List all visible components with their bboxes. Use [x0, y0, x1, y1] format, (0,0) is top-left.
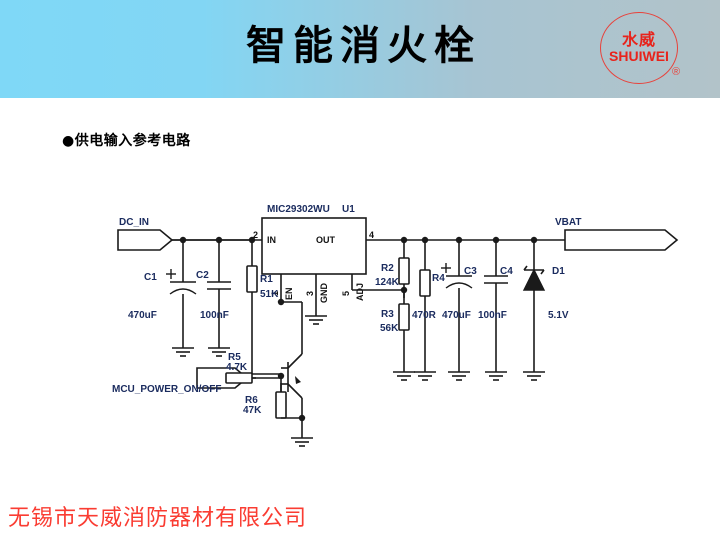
label-c2-value: 100nF	[200, 310, 229, 321]
label-r3-designator: R3	[381, 309, 394, 320]
label-c4-designator: C4	[500, 266, 513, 277]
label-c1-value: 470uF	[128, 310, 157, 321]
port-vbat	[565, 230, 677, 250]
ic-part-number: MIC29302WU	[267, 204, 330, 215]
component-c4	[484, 237, 508, 380]
ic-pin-5-number: 5	[341, 291, 351, 296]
component-r4	[414, 237, 436, 380]
label-c4-value: 100nF	[478, 310, 507, 321]
component-c1	[166, 237, 196, 356]
label-r1-designator: R1	[260, 274, 273, 285]
ic-pin-4-number: 4	[369, 230, 374, 240]
label-c3-designator: C3	[464, 266, 477, 277]
label-port-dc-in: DC_IN	[119, 217, 149, 228]
label-port-vbat: VBAT	[555, 217, 581, 228]
ic-designator: U1	[342, 204, 355, 215]
component-c2	[207, 237, 231, 356]
label-r5-value: 4.7K	[226, 362, 248, 373]
label-port-mcu-power: MCU_POWER_ON/OFF	[112, 384, 221, 395]
section-heading: ●供电输入参考电路	[62, 130, 191, 150]
label-r4-value: 470R	[412, 310, 437, 321]
registered-trademark-icon: ®	[672, 66, 680, 78]
label-r2-value: 124K	[375, 277, 400, 288]
label-d1-designator: D1	[552, 266, 565, 277]
logo-pinyin-text: SHUIWEI	[600, 48, 678, 64]
label-r2-designator: R2	[381, 263, 394, 274]
label-c2-designator: C2	[196, 270, 209, 281]
label-r6-value: 47K	[243, 405, 262, 416]
ic-pin-out-label: OUT	[316, 235, 336, 245]
ic-pin-2-number: 2	[253, 230, 258, 240]
ic-pin-in-label: IN	[267, 235, 276, 245]
ic-pin-gnd-label: GND	[319, 283, 329, 304]
ic-pin-adj-label: ADJ	[355, 283, 365, 301]
label-c3-value: 470uF	[442, 310, 471, 321]
label-c1-designator: C1	[144, 272, 157, 283]
component-r2	[399, 237, 409, 298]
component-r6	[276, 383, 313, 446]
component-r3	[393, 290, 415, 380]
ic-pin-3-number: 3	[305, 291, 315, 296]
ic-pin-en-label: EN	[284, 287, 294, 300]
header-banner: 智能消火栓 水威 SHUIWEI ®	[0, 0, 720, 98]
label-r4-designator: R4	[432, 273, 445, 284]
label-r1-value: 51K	[260, 289, 279, 300]
label-d1-value: 5.1V	[548, 310, 569, 321]
component-d1	[523, 237, 545, 380]
logo-chinese-text: 水威	[600, 26, 678, 50]
label-r3-value: 56K	[380, 323, 399, 334]
circuit-diagram: .wire { stroke: #1a1a1a; stroke-width: 1…	[0, 170, 720, 470]
component-c3	[441, 237, 472, 380]
footer-company-name: 无锡市天威消防器材有限公司	[8, 500, 307, 532]
brand-logo: 水威 SHUIWEI ®	[600, 12, 684, 88]
